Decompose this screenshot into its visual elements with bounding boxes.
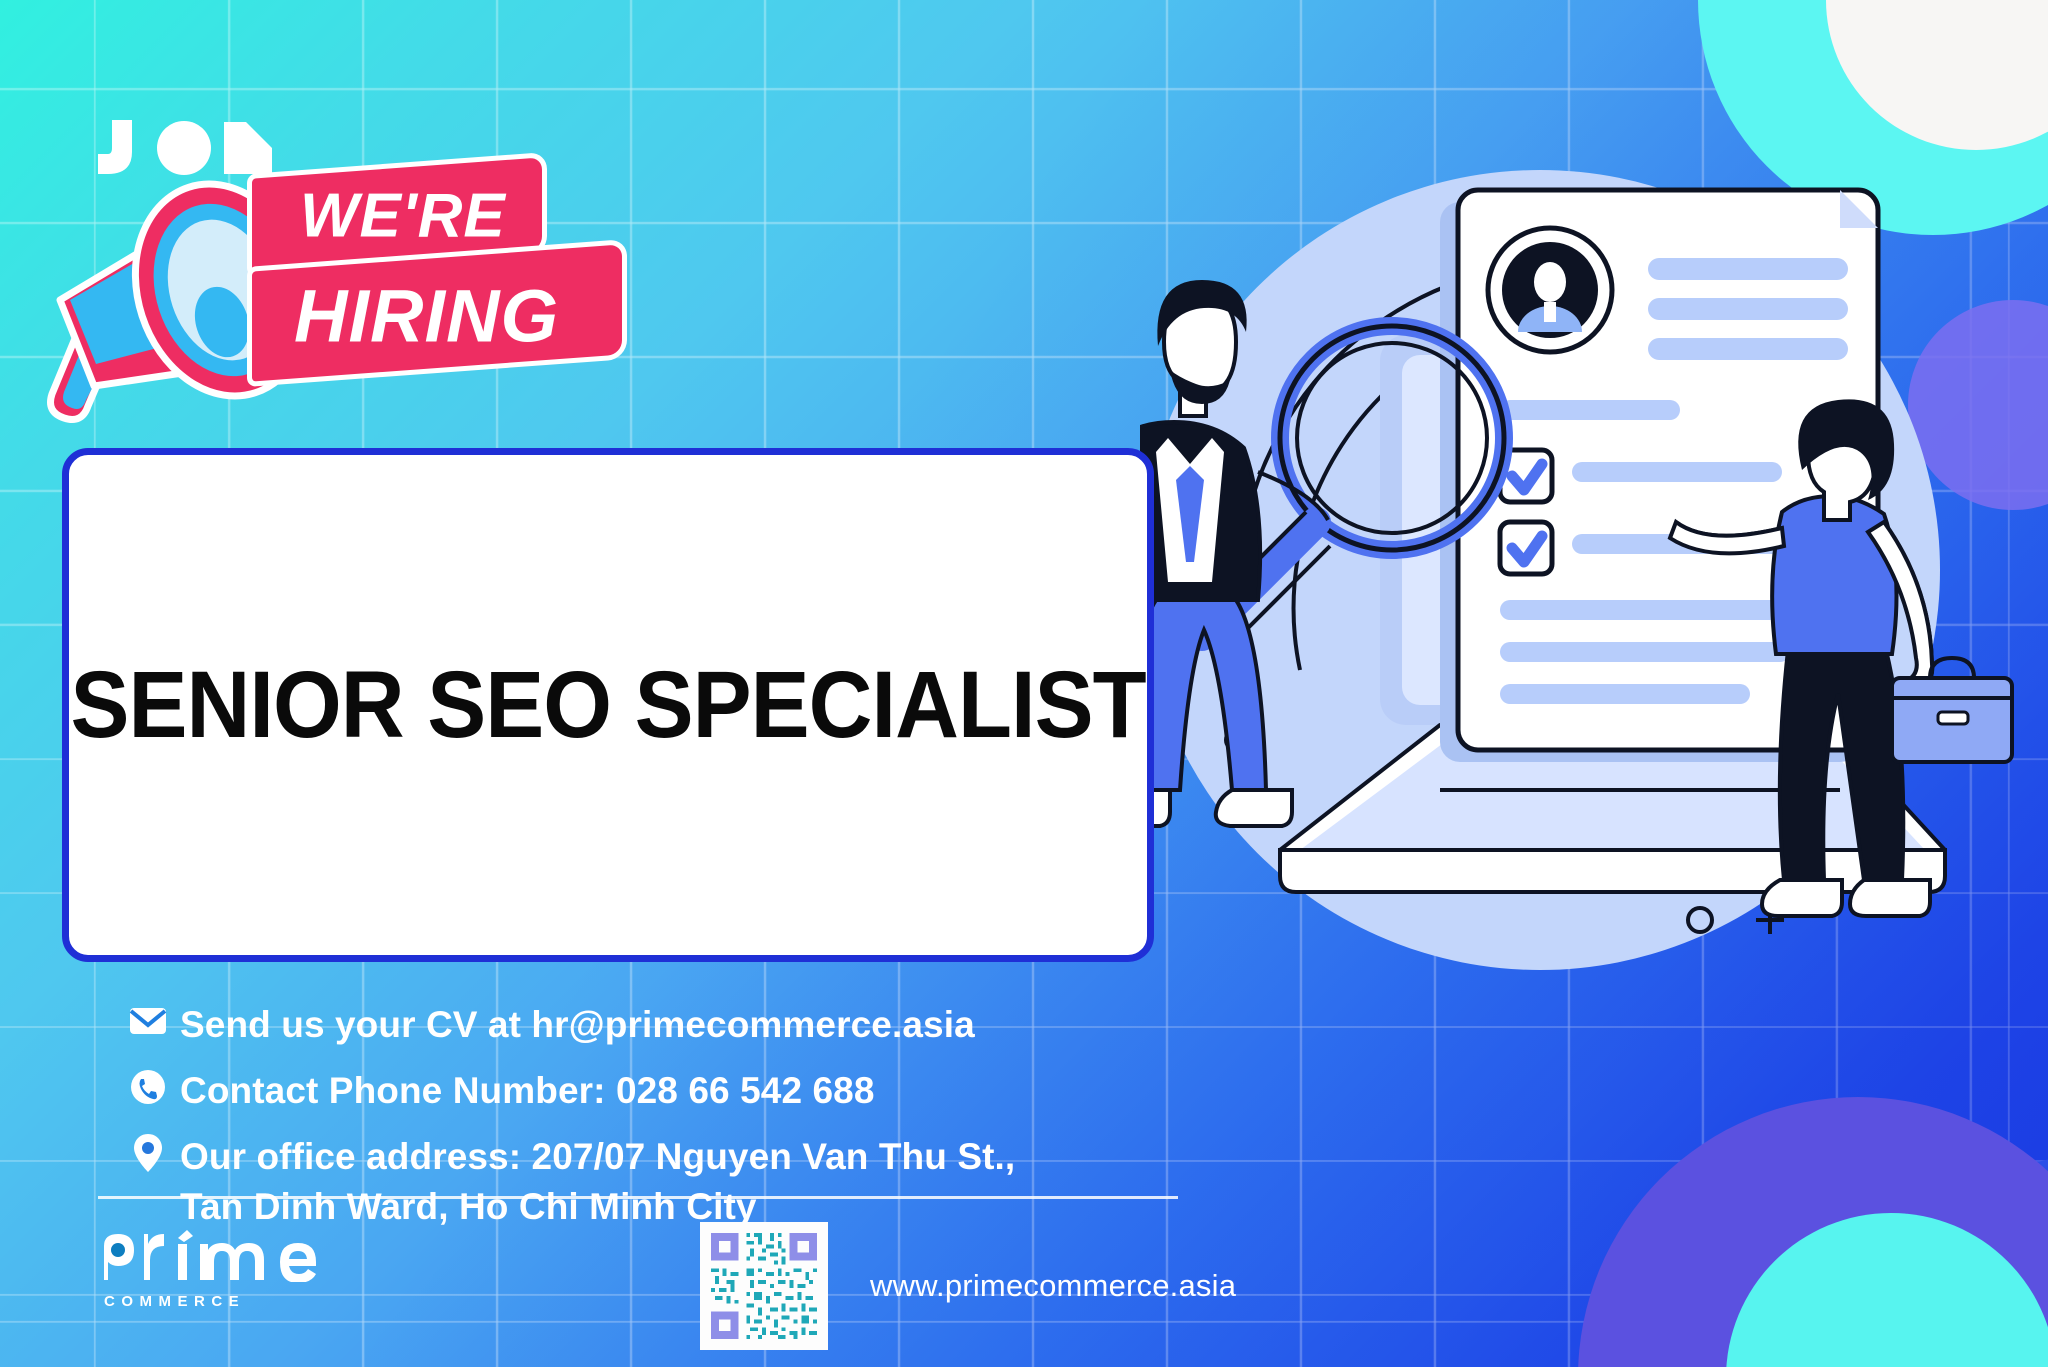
- qr-and-website: www.primecommerce.asia: [700, 1222, 1236, 1350]
- contact-email-text: Send us your CV at hr@primecommerce.asia: [180, 1000, 975, 1050]
- contact-row-email: Send us your CV at hr@primecommerce.asia: [126, 1000, 1126, 1050]
- job-title: SENIOR SEO SPECIALIST: [70, 651, 1145, 760]
- prime-commerce-logo: COMMERCE: [100, 1230, 350, 1310]
- contact-block: Send us your CV at hr@primecommerce.asia…: [126, 1000, 1126, 1248]
- ribbon-were-text: WE'RE: [252, 180, 506, 251]
- envelope-icon: [126, 1000, 170, 1042]
- contact-address-text: Our office address: 207/07 Nguyen Van Th…: [180, 1132, 1015, 1232]
- website-url: www.primecommerce.asia: [870, 1268, 1236, 1304]
- contact-address-line1: Our office address: 207/07 Nguyen Van Th…: [180, 1136, 1015, 1177]
- job-title-card: SENIOR SEO SPECIALIST: [62, 448, 1154, 962]
- footer-divider: [98, 1196, 1178, 1199]
- recruitment-poster: WE'RE HIRING SENIOR SEO SPECIALIST Send …: [0, 0, 2048, 1367]
- logo-subtext: COMMERCE: [104, 1293, 350, 1310]
- qr-code: [700, 1222, 828, 1350]
- recruitment-illustration: [1140, 150, 2048, 1090]
- contact-phone-text: Contact Phone Number: 028 66 542 688: [180, 1066, 875, 1116]
- contact-row-address: Our office address: 207/07 Nguyen Van Th…: [126, 1132, 1126, 1232]
- ribbon-hiring-text: HIRING: [252, 273, 559, 358]
- location-pin-icon: [126, 1132, 170, 1174]
- logo-wordmark: [100, 1230, 350, 1282]
- phone-icon: [126, 1066, 170, 1108]
- contact-row-phone: Contact Phone Number: 028 66 542 688: [126, 1066, 1126, 1116]
